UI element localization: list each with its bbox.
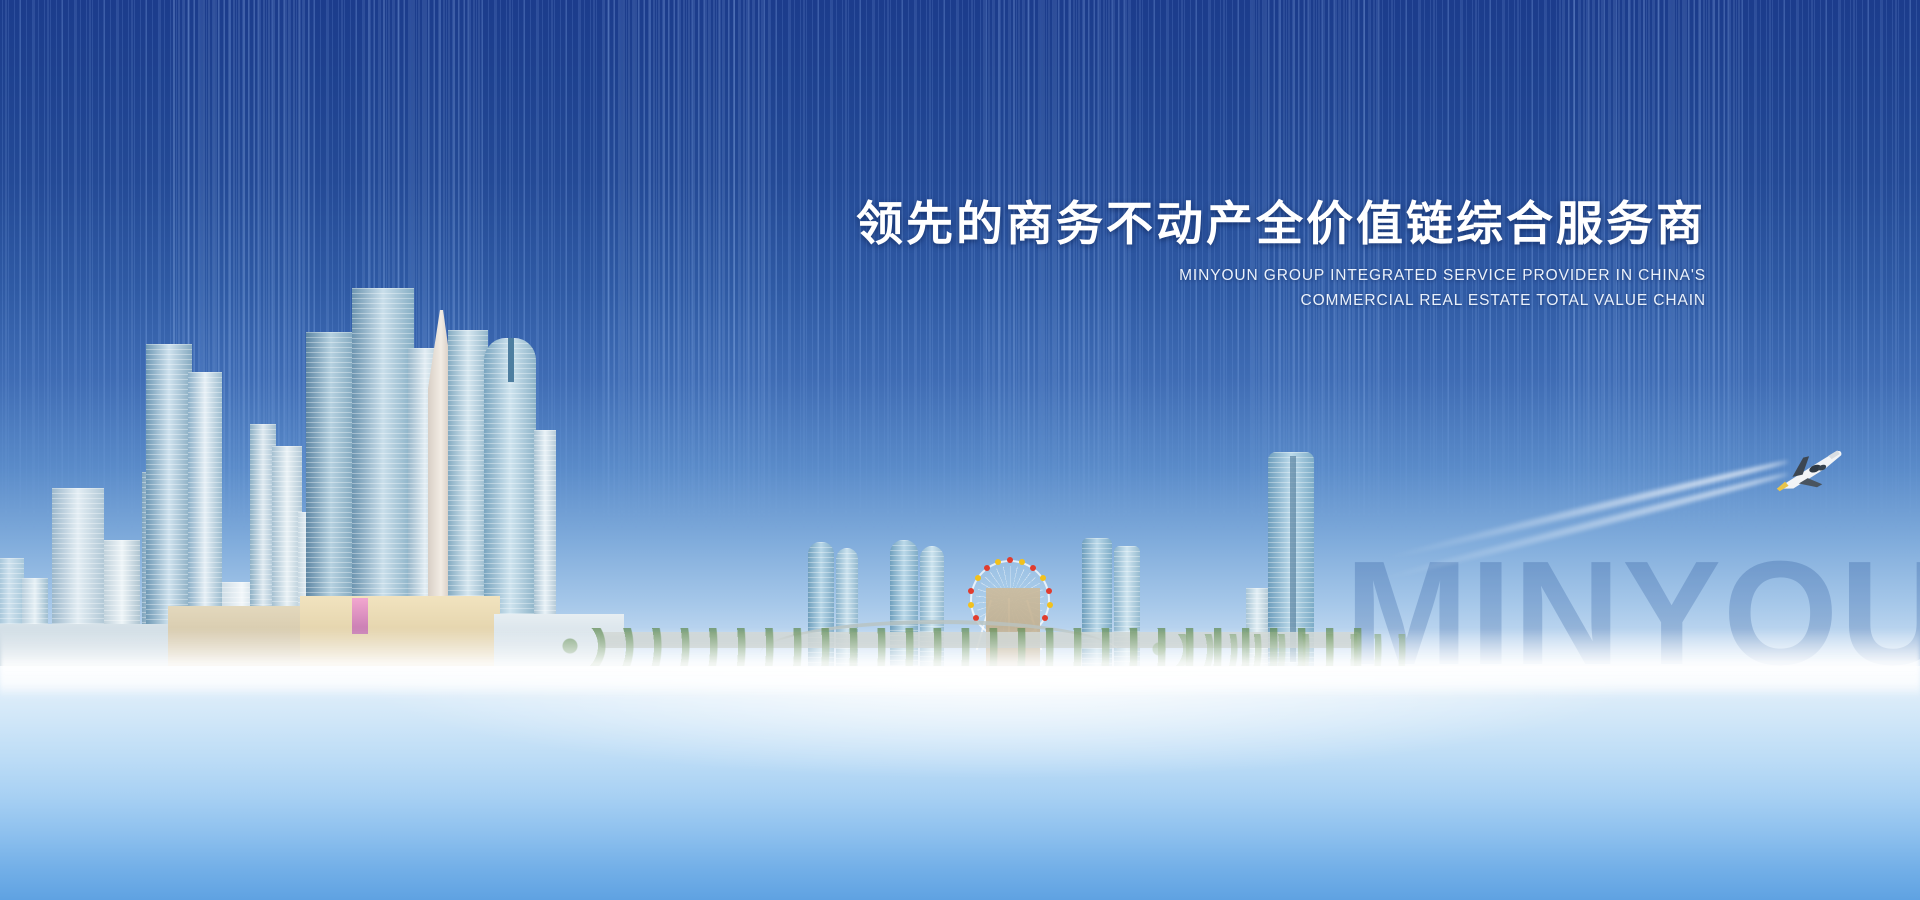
- ferris-cabin: [984, 565, 990, 571]
- ferris-cabin: [968, 588, 974, 594]
- ferris-cabin: [995, 559, 1001, 565]
- ferris-cabin: [1030, 565, 1036, 571]
- building-arched-notch: [508, 338, 514, 382]
- ferris-cabin: [1046, 588, 1052, 594]
- ferris-cabin: [1047, 602, 1053, 608]
- ferris-cabin: [968, 602, 974, 608]
- ferris-cabin: [1040, 575, 1046, 581]
- page-title: 领先的商务不动产全价值链综合服务商: [856, 196, 1706, 252]
- subtitle-line-2: COMMERCIAL REAL ESTATE TOTAL VALUE CHAIN: [856, 290, 1706, 312]
- city-skyline: [0, 0, 1920, 680]
- water-sheen: [0, 666, 1920, 900]
- ferris-cabin: [1019, 559, 1025, 565]
- horizon-mist: [0, 628, 1920, 698]
- ferris-cabin: [975, 575, 981, 581]
- subtitle-line-1: MINYOUN GROUP INTEGRATED SERVICE PROVIDE…: [856, 265, 1706, 287]
- headline-block: 领先的商务不动产全价值链综合服务商 MINYOUN GROUP INTEGRAT…: [856, 196, 1706, 312]
- ferris-cabin: [1042, 615, 1048, 621]
- banner-hero: MINYOUN: [0, 0, 1920, 900]
- ferris-cabin: [1007, 557, 1013, 563]
